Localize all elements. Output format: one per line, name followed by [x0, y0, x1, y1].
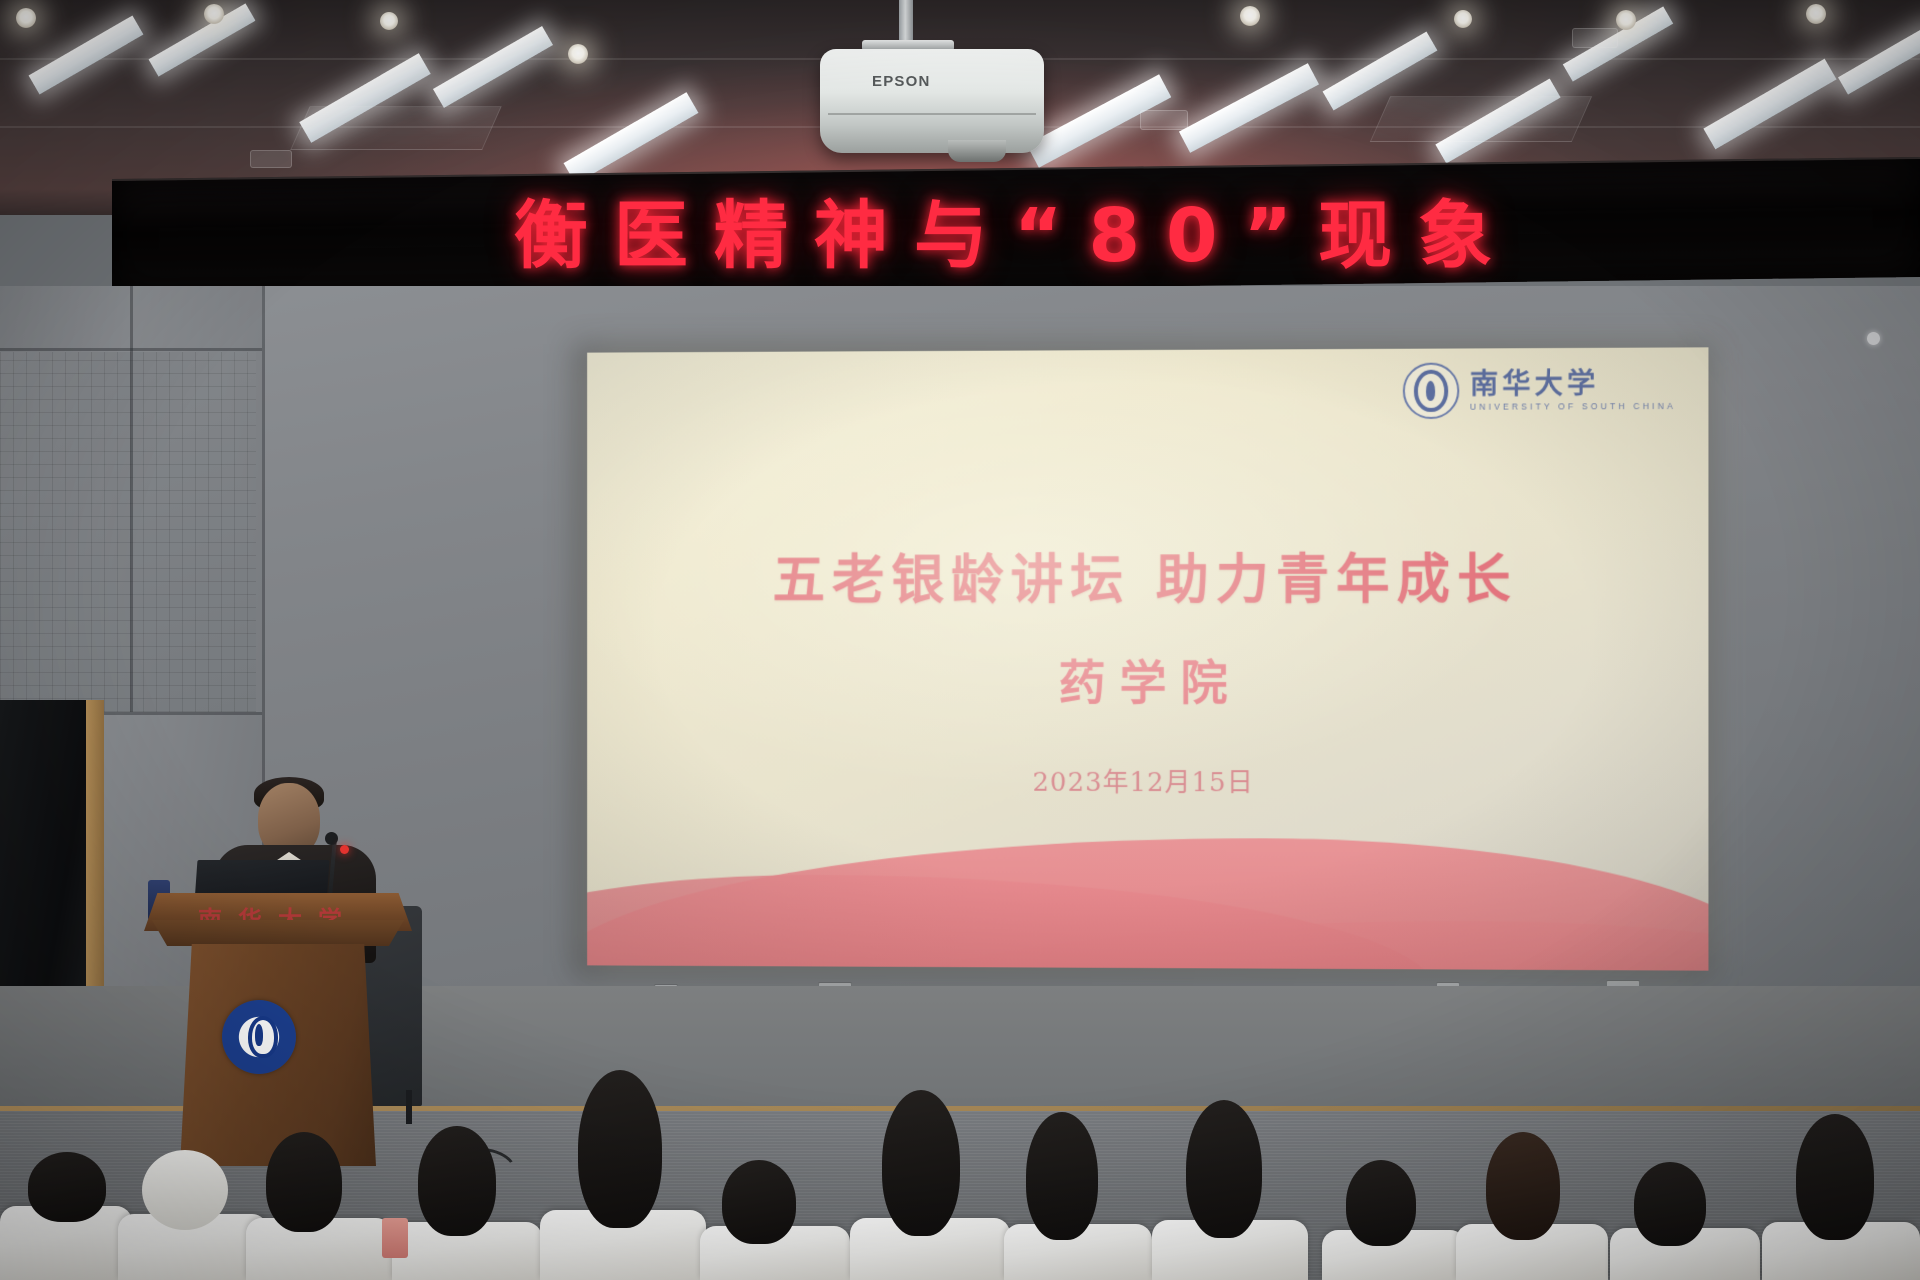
- audience-head: [1634, 1162, 1706, 1246]
- audience-head: [266, 1132, 342, 1232]
- audience-head: [142, 1150, 228, 1230]
- audience-head: [1026, 1112, 1098, 1240]
- audience-head: [1486, 1132, 1560, 1240]
- audience-head: [418, 1126, 496, 1236]
- audience: [0, 0, 1920, 1280]
- audience-head: [1796, 1114, 1874, 1240]
- audience-head: [1186, 1100, 1262, 1238]
- audience-head: [722, 1160, 796, 1244]
- audience-head: [882, 1090, 960, 1236]
- audience-head: [28, 1152, 106, 1222]
- audience-head: [1346, 1160, 1416, 1246]
- audience-head: [578, 1070, 662, 1228]
- paper-cup: [382, 1218, 408, 1258]
- lecture-hall-photo: EPSON 衡医精神与“80”现象 南华大学 UNIVERSITY OF SOU…: [0, 0, 1920, 1280]
